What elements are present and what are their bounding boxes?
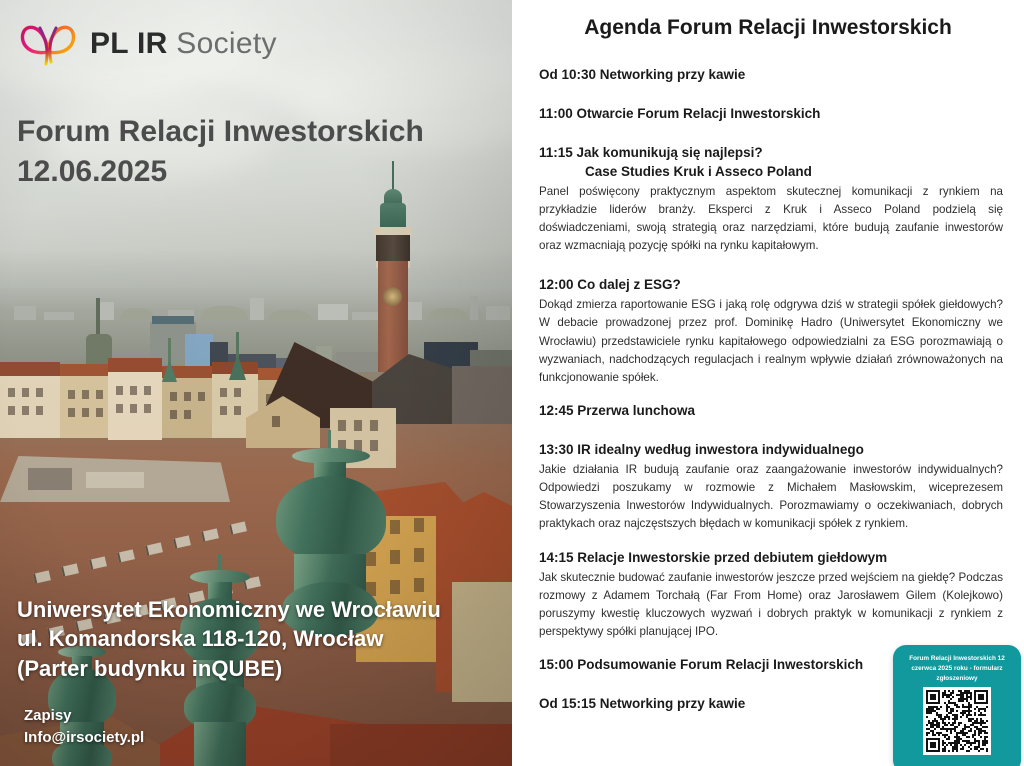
- qr-card-caption: Forum Relacji Inwestorskich 12 czerwca 2…: [901, 654, 1013, 684]
- agenda-panel: Agenda Forum Relacji Inwestorskich Od 10…: [512, 0, 1024, 766]
- agenda-item-heading: 14:15 Relacje Inwestorskie przed debiute…: [539, 549, 1003, 567]
- venue-street: ul. Komandorska 118-120, Wrocław: [17, 624, 441, 653]
- agenda-list: Od 10:30 Networking przy kawie 11:00 Otw…: [539, 66, 1003, 714]
- event-title-block: Forum Relacji Inwestorskich 12.06.2025: [17, 112, 424, 191]
- venue-name: Uniwersytet Ekonomiczny we Wrocławiu: [17, 595, 441, 624]
- agenda-title: Agenda Forum Relacji Inwestorskich: [512, 16, 1024, 40]
- agenda-item-heading: 12:00 Co dalej z ESG?: [539, 276, 1003, 294]
- registration-label: Zapisy: [24, 705, 144, 727]
- agenda-item-body: Panel poświęcony praktycznym aspektom sk…: [539, 183, 1003, 255]
- agenda-item-0: Od 10:30 Networking przy kawie: [539, 66, 1003, 84]
- agenda-item-heading: Od 10:30 Networking przy kawie: [539, 66, 1003, 84]
- event-poster: PL IR Society Forum Relacji Inwestorskic…: [0, 0, 1024, 766]
- event-title: Forum Relacji Inwestorskich: [17, 112, 424, 152]
- event-date: 12.06.2025: [17, 152, 424, 192]
- agenda-item-body: Dokąd zmierza raportowanie ESG i jaką ro…: [539, 296, 1003, 386]
- logo-wordmark-light: Society: [176, 27, 276, 60]
- agenda-item-body: Jakie działania IR budują zaufanie oraz …: [539, 461, 1003, 533]
- agenda-item-heading: 13:30 IR idealny według inwestora indywi…: [539, 441, 1003, 459]
- logo-wordmark: PL IR Society: [90, 29, 277, 59]
- agenda-item-4: 12:45 Przerwa lunchowa: [539, 402, 1003, 420]
- agenda-item-heading: 11:00 Otwarcie Forum Relacji Inwestorski…: [539, 105, 1003, 123]
- venue-address-block: Uniwersytet Ekonomiczny we Wrocławiu ul.…: [17, 595, 441, 683]
- agenda-item-body: Jak skutecznie budować zaufanie inwestor…: [539, 569, 1003, 641]
- registration-contact-block: Zapisy Info@irsociety.pl: [24, 705, 144, 749]
- venue-detail: (Parter budynku inQUBE): [17, 654, 441, 683]
- logo-wordmark-bold: PL IR: [90, 27, 168, 60]
- left-photo-panel: PL IR Society Forum Relacji Inwestorskic…: [0, 0, 512, 766]
- registration-qr-card[interactable]: Forum Relacji Inwestorskich 12 czerwca 2…: [893, 645, 1021, 766]
- registration-email[interactable]: Info@irsociety.pl: [24, 727, 144, 749]
- agenda-item-subheading: Case Studies Kruk i Asseco Poland: [539, 163, 1003, 181]
- qr-code-icon[interactable]: [923, 687, 991, 755]
- agenda-item-6: 14:15 Relacje Inwestorskie przed debiute…: [539, 549, 1003, 642]
- agenda-item-1: 11:00 Otwarcie Forum Relacji Inwestorski…: [539, 105, 1003, 123]
- agenda-item-2: 11:15 Jak komunikują się najlepsi? Case …: [539, 144, 1003, 255]
- agenda-item-3: 12:00 Co dalej z ESG? Dokąd zmierza rapo…: [539, 276, 1003, 387]
- agenda-item-heading: 12:45 Przerwa lunchowa: [539, 402, 1003, 420]
- agenda-item-heading: 11:15 Jak komunikują się najlepsi?: [539, 144, 1003, 162]
- agenda-item-5: 13:30 IR idealny według inwestora indywi…: [539, 441, 1003, 534]
- pl-ir-society-logo: PL IR Society: [18, 22, 277, 66]
- butterfly-logo-icon: [18, 22, 80, 66]
